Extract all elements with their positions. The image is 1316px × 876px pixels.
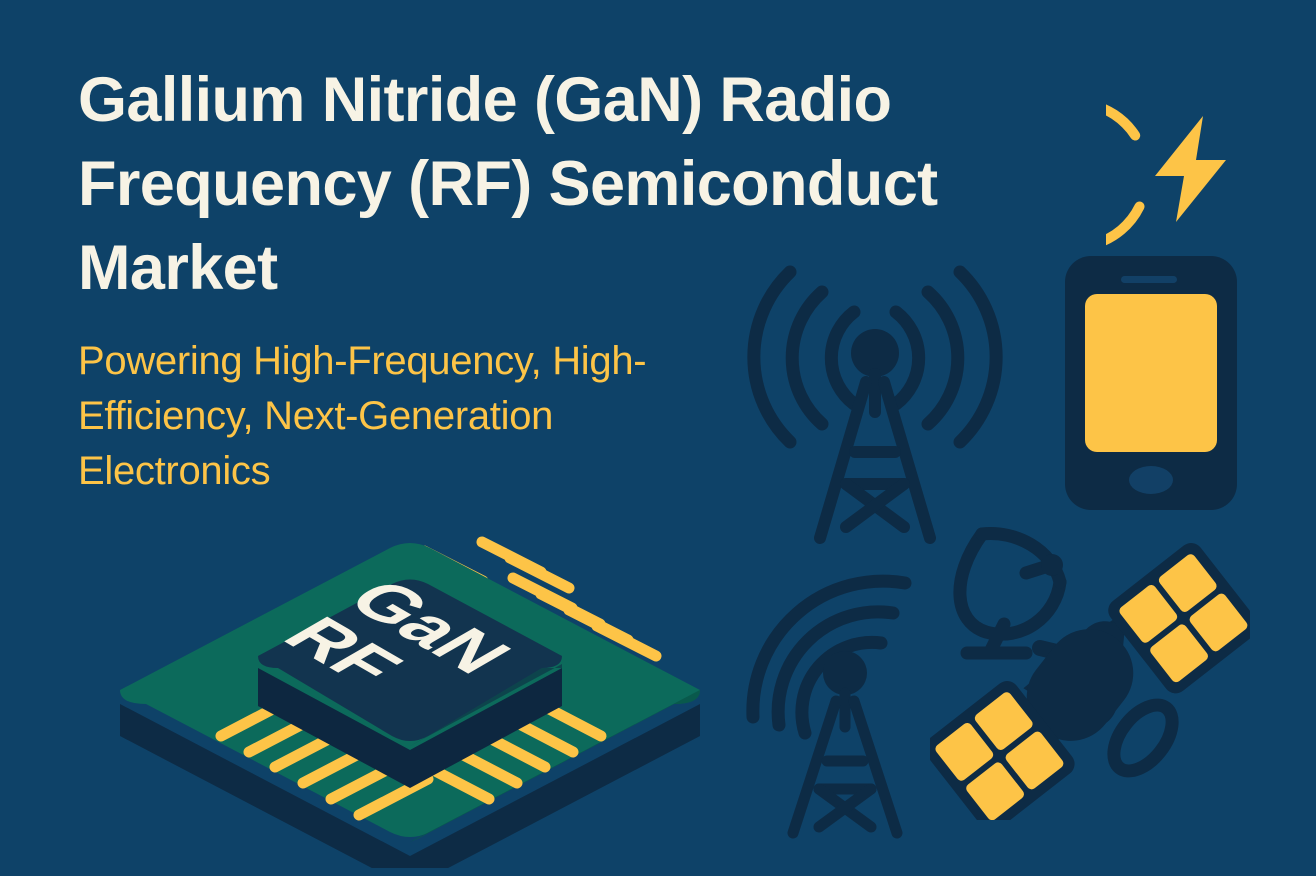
hero-text-block: Gallium Nitride (GaN) Radio Frequency (R… <box>78 58 1158 499</box>
lightning-bolt-badge-icon <box>1106 84 1274 252</box>
badge-ring <box>1106 103 1140 247</box>
gan-rf-chip-illustration: GaN RF <box>110 478 710 868</box>
bolt-glyph <box>1155 116 1226 222</box>
hero-banner-canvas: GaN RF Gallium Nitride (GaN) Radio Frequ… <box>0 0 1316 876</box>
satellite-icon <box>930 520 1250 820</box>
page-subtitle: Powering High-Frequency, High-Efficiency… <box>78 334 718 499</box>
broadcast-tower-icon <box>735 565 960 845</box>
satellite-dish-icon <box>960 533 1063 653</box>
page-title: Gallium Nitride (GaN) Radio Frequency (R… <box>78 58 1138 310</box>
